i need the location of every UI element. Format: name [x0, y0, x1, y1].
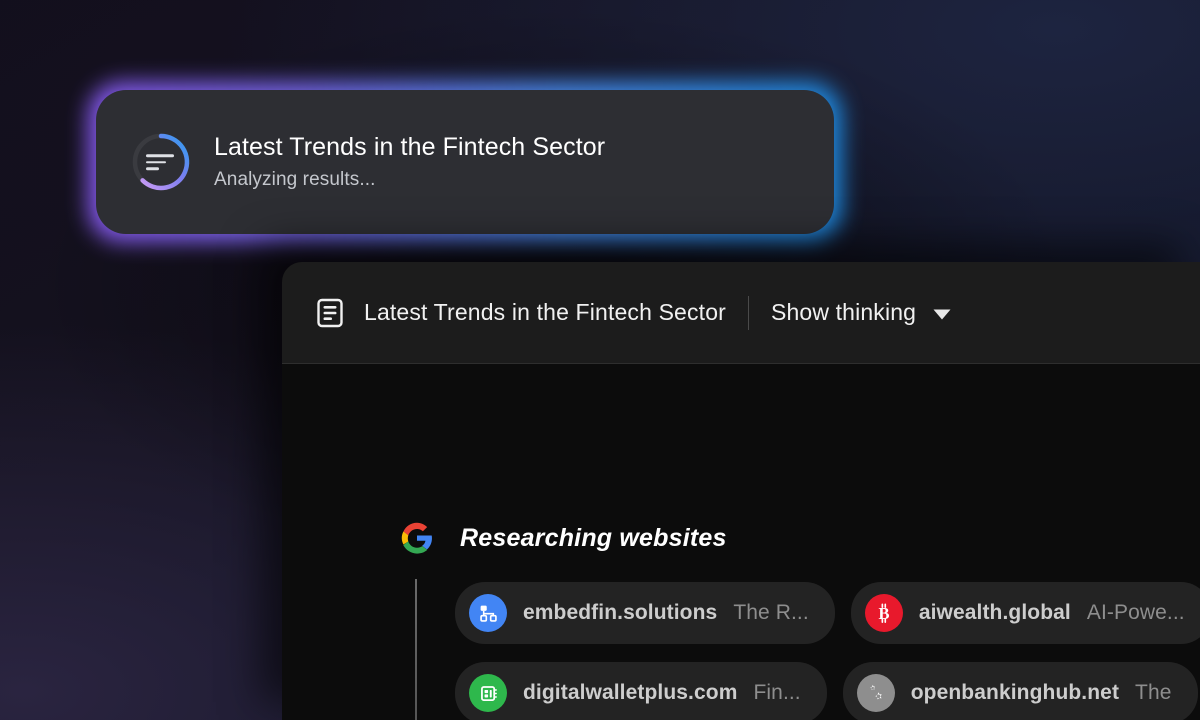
toast-title: Latest Trends in the Fintech Sector: [214, 133, 605, 162]
memory-chip-icon: [469, 674, 507, 712]
bitcoin-icon: B: [865, 594, 903, 632]
source-domain: openbankinghub.net: [911, 681, 1119, 705]
source-domain: digitalwalletplus.com: [523, 681, 737, 705]
source-snippet: AI-Powe...: [1087, 601, 1185, 625]
toast-status-text: Analyzing results...: [214, 169, 605, 191]
network-nodes-icon: [469, 594, 507, 632]
panel-body: Researching websites embedfin.solutions: [282, 364, 1200, 720]
source-snippet: Fin...: [753, 681, 800, 705]
research-notification-toast[interactable]: Latest Trends in the Fintech Sector Anal…: [96, 90, 834, 234]
source-domain: embedfin.solutions: [523, 601, 717, 625]
gears-icon: [857, 674, 895, 712]
source-snippet: The R...: [733, 601, 809, 625]
header-divider: [748, 296, 749, 330]
research-panel: Latest Trends in the Fintech Sector Show…: [282, 262, 1200, 720]
source-chip[interactable]: B aiwealth.global AI-Powe...: [851, 582, 1200, 644]
research-status-header: Researching websites: [400, 521, 727, 555]
progress-lines-glyph: [146, 154, 176, 170]
chevron-down-icon[interactable]: [933, 307, 951, 318]
article-icon: [314, 297, 346, 329]
page-title: Latest Trends in the Fintech Sector: [364, 299, 726, 326]
source-snippet: The: [1135, 681, 1172, 705]
source-chip-row: embedfin.solutions The R... B aiwealth.g…: [455, 582, 1200, 644]
source-chip[interactable]: embedfin.solutions The R...: [455, 582, 835, 644]
panel-header: Latest Trends in the Fintech Sector Show…: [282, 262, 1200, 364]
source-chip-row: digitalwalletplus.com Fin...: [455, 662, 1200, 720]
research-status-label: Researching websites: [460, 524, 727, 553]
svg-text:B: B: [878, 604, 889, 623]
show-thinking-toggle[interactable]: Show thinking: [771, 299, 951, 326]
google-logo-icon: [400, 521, 434, 555]
source-chip[interactable]: openbankinghub.net The: [843, 662, 1198, 720]
source-domain: aiwealth.global: [919, 601, 1071, 625]
circular-progress-ring-icon: [130, 131, 192, 193]
show-thinking-label: Show thinking: [771, 299, 916, 326]
source-chip-list: embedfin.solutions The R... B aiwealth.g…: [455, 582, 1200, 720]
source-chip[interactable]: digitalwalletplus.com Fin...: [455, 662, 827, 720]
timeline-connector-line: [415, 579, 417, 720]
